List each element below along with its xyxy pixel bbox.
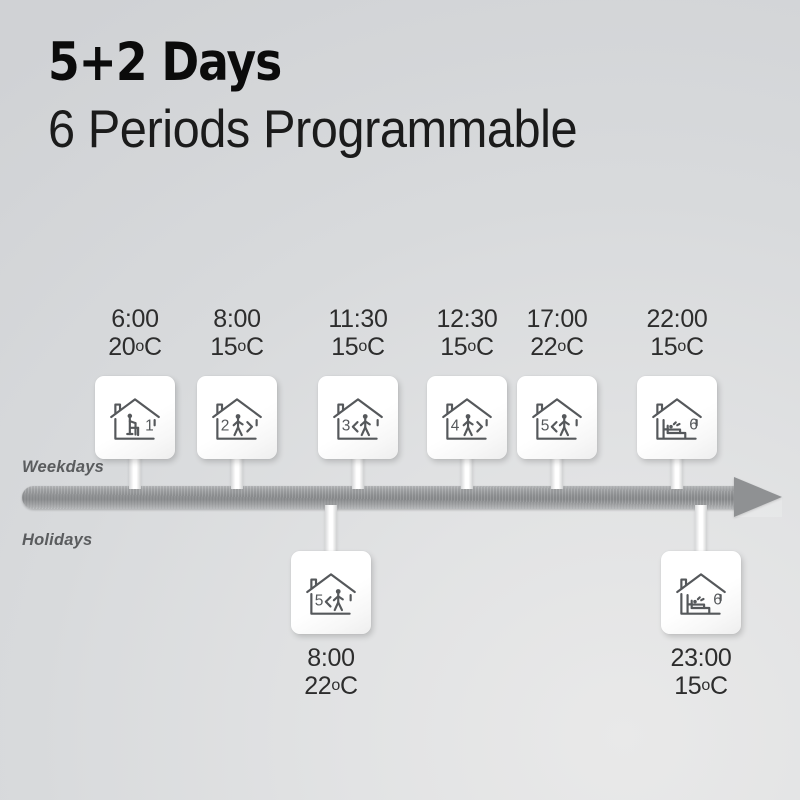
holiday-period-stem [325,505,337,555]
house-person-returning-icon: 3 [327,391,389,445]
svg-text:2: 2 [221,417,230,434]
svg-text:5: 5 [541,417,550,434]
weekday-period-card-2[interactable]: 2 [197,376,277,459]
header-block: 5+2 Days 6 Periods Programmable [48,34,768,160]
period-temperature: 15oC [177,333,297,361]
period-time: 8:00 [177,306,297,333]
holiday-period-label-6: 23:0015oC [641,645,761,700]
period-time: 23:00 [641,645,761,672]
period-time: 11:30 [298,306,418,333]
weekday-period-card-5[interactable]: 5 [517,376,597,459]
weekday-period-stem [671,455,683,489]
page-title: 5+2 Days [48,34,667,92]
weekday-period-stem [231,455,243,489]
svg-text:6: 6 [713,591,722,608]
house-person-leaving-icon: 4 [436,391,498,445]
holiday-period-card-6[interactable]: 6 [661,551,741,634]
svg-text:5: 5 [315,592,324,609]
timeline-axis [22,486,778,509]
holidays-label: Holidays [22,531,92,550]
weekday-period-card-1[interactable]: 1 [95,376,175,459]
svg-text:3: 3 [342,417,351,434]
weekday-period-card-4[interactable]: 4 [427,376,507,459]
weekday-period-stem [129,455,141,489]
weekday-period-label-2: 8:0015oC [177,306,297,361]
weekday-period-stem [461,455,473,489]
house-bed-sleeping-icon: 6 [646,391,708,445]
period-temperature: 22oC [497,333,617,361]
weekday-period-label-5: 17:0022oC [497,306,617,361]
period-temperature: 15oC [641,672,761,700]
svg-text:1: 1 [145,417,154,434]
period-temperature: 15oC [617,333,737,361]
weekday-period-card-6[interactable]: 6 [637,376,717,459]
timeline-bar [22,486,740,509]
holiday-period-card-5[interactable]: 5 [291,551,371,634]
holiday-period-stem [695,505,707,555]
weekday-period-stem [551,455,563,489]
period-time: 22:00 [617,306,737,333]
period-temperature: 15oC [298,333,418,361]
house-person-leaving-icon: 2 [206,391,268,445]
svg-text:4: 4 [451,417,460,434]
page-subtitle: 6 Periods Programmable [48,100,710,160]
house-bed-sleeping-icon: 6 [670,566,732,620]
period-time: 8:00 [271,645,391,672]
house-person-returning-icon: 5 [526,391,588,445]
weekday-period-stem [352,455,364,489]
period-temperature: 22oC [271,672,391,700]
svg-text:6: 6 [689,416,698,433]
period-time: 17:00 [497,306,617,333]
weekday-period-label-6: 22:0015oC [617,306,737,361]
weekday-period-label-3: 11:3015oC [298,306,418,361]
weekdays-label: Weekdays [22,458,104,477]
house-person-sitting-icon: 1 [104,391,166,445]
house-person-returning-icon: 5 [300,566,362,620]
weekday-period-card-3[interactable]: 3 [318,376,398,459]
timeline-arrowhead-shade [734,477,782,517]
holiday-period-label-5: 8:0022oC [271,645,391,700]
